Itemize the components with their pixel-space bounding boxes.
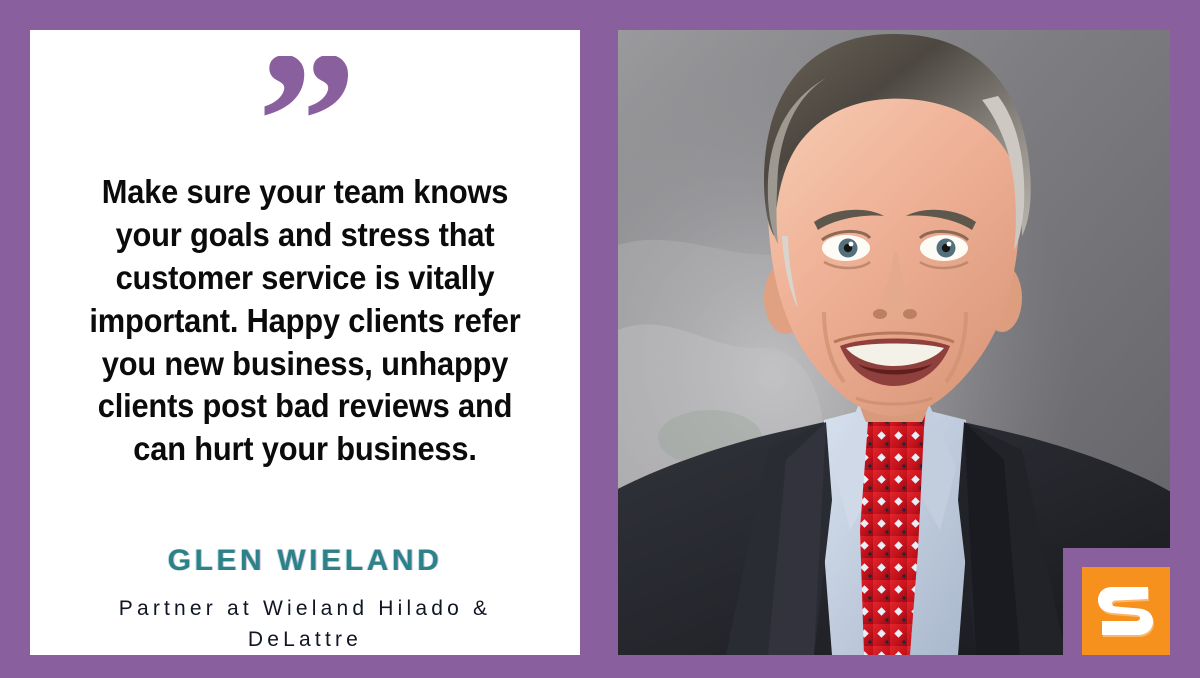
logo-badge xyxy=(1063,548,1170,655)
s-logo-icon xyxy=(1096,579,1156,643)
logo-square xyxy=(1082,567,1170,655)
author-name: GLEN WIELAND xyxy=(30,544,580,577)
attribution-block: GLEN WIELAND Partner at Wieland Hilado &… xyxy=(30,544,580,655)
quote-text: Make sure your team knows your goals and… xyxy=(89,172,521,472)
author-role: Partner at Wieland Hilado & DeLattre xyxy=(70,594,540,655)
quotation-mark-glyph: ” xyxy=(257,56,353,160)
quote-card: ” Make sure your team knows your goals a… xyxy=(30,30,580,655)
quotation-mark-icon: ” xyxy=(257,56,353,160)
quote-graphic: ” Make sure your team knows your goals a… xyxy=(0,0,1200,678)
